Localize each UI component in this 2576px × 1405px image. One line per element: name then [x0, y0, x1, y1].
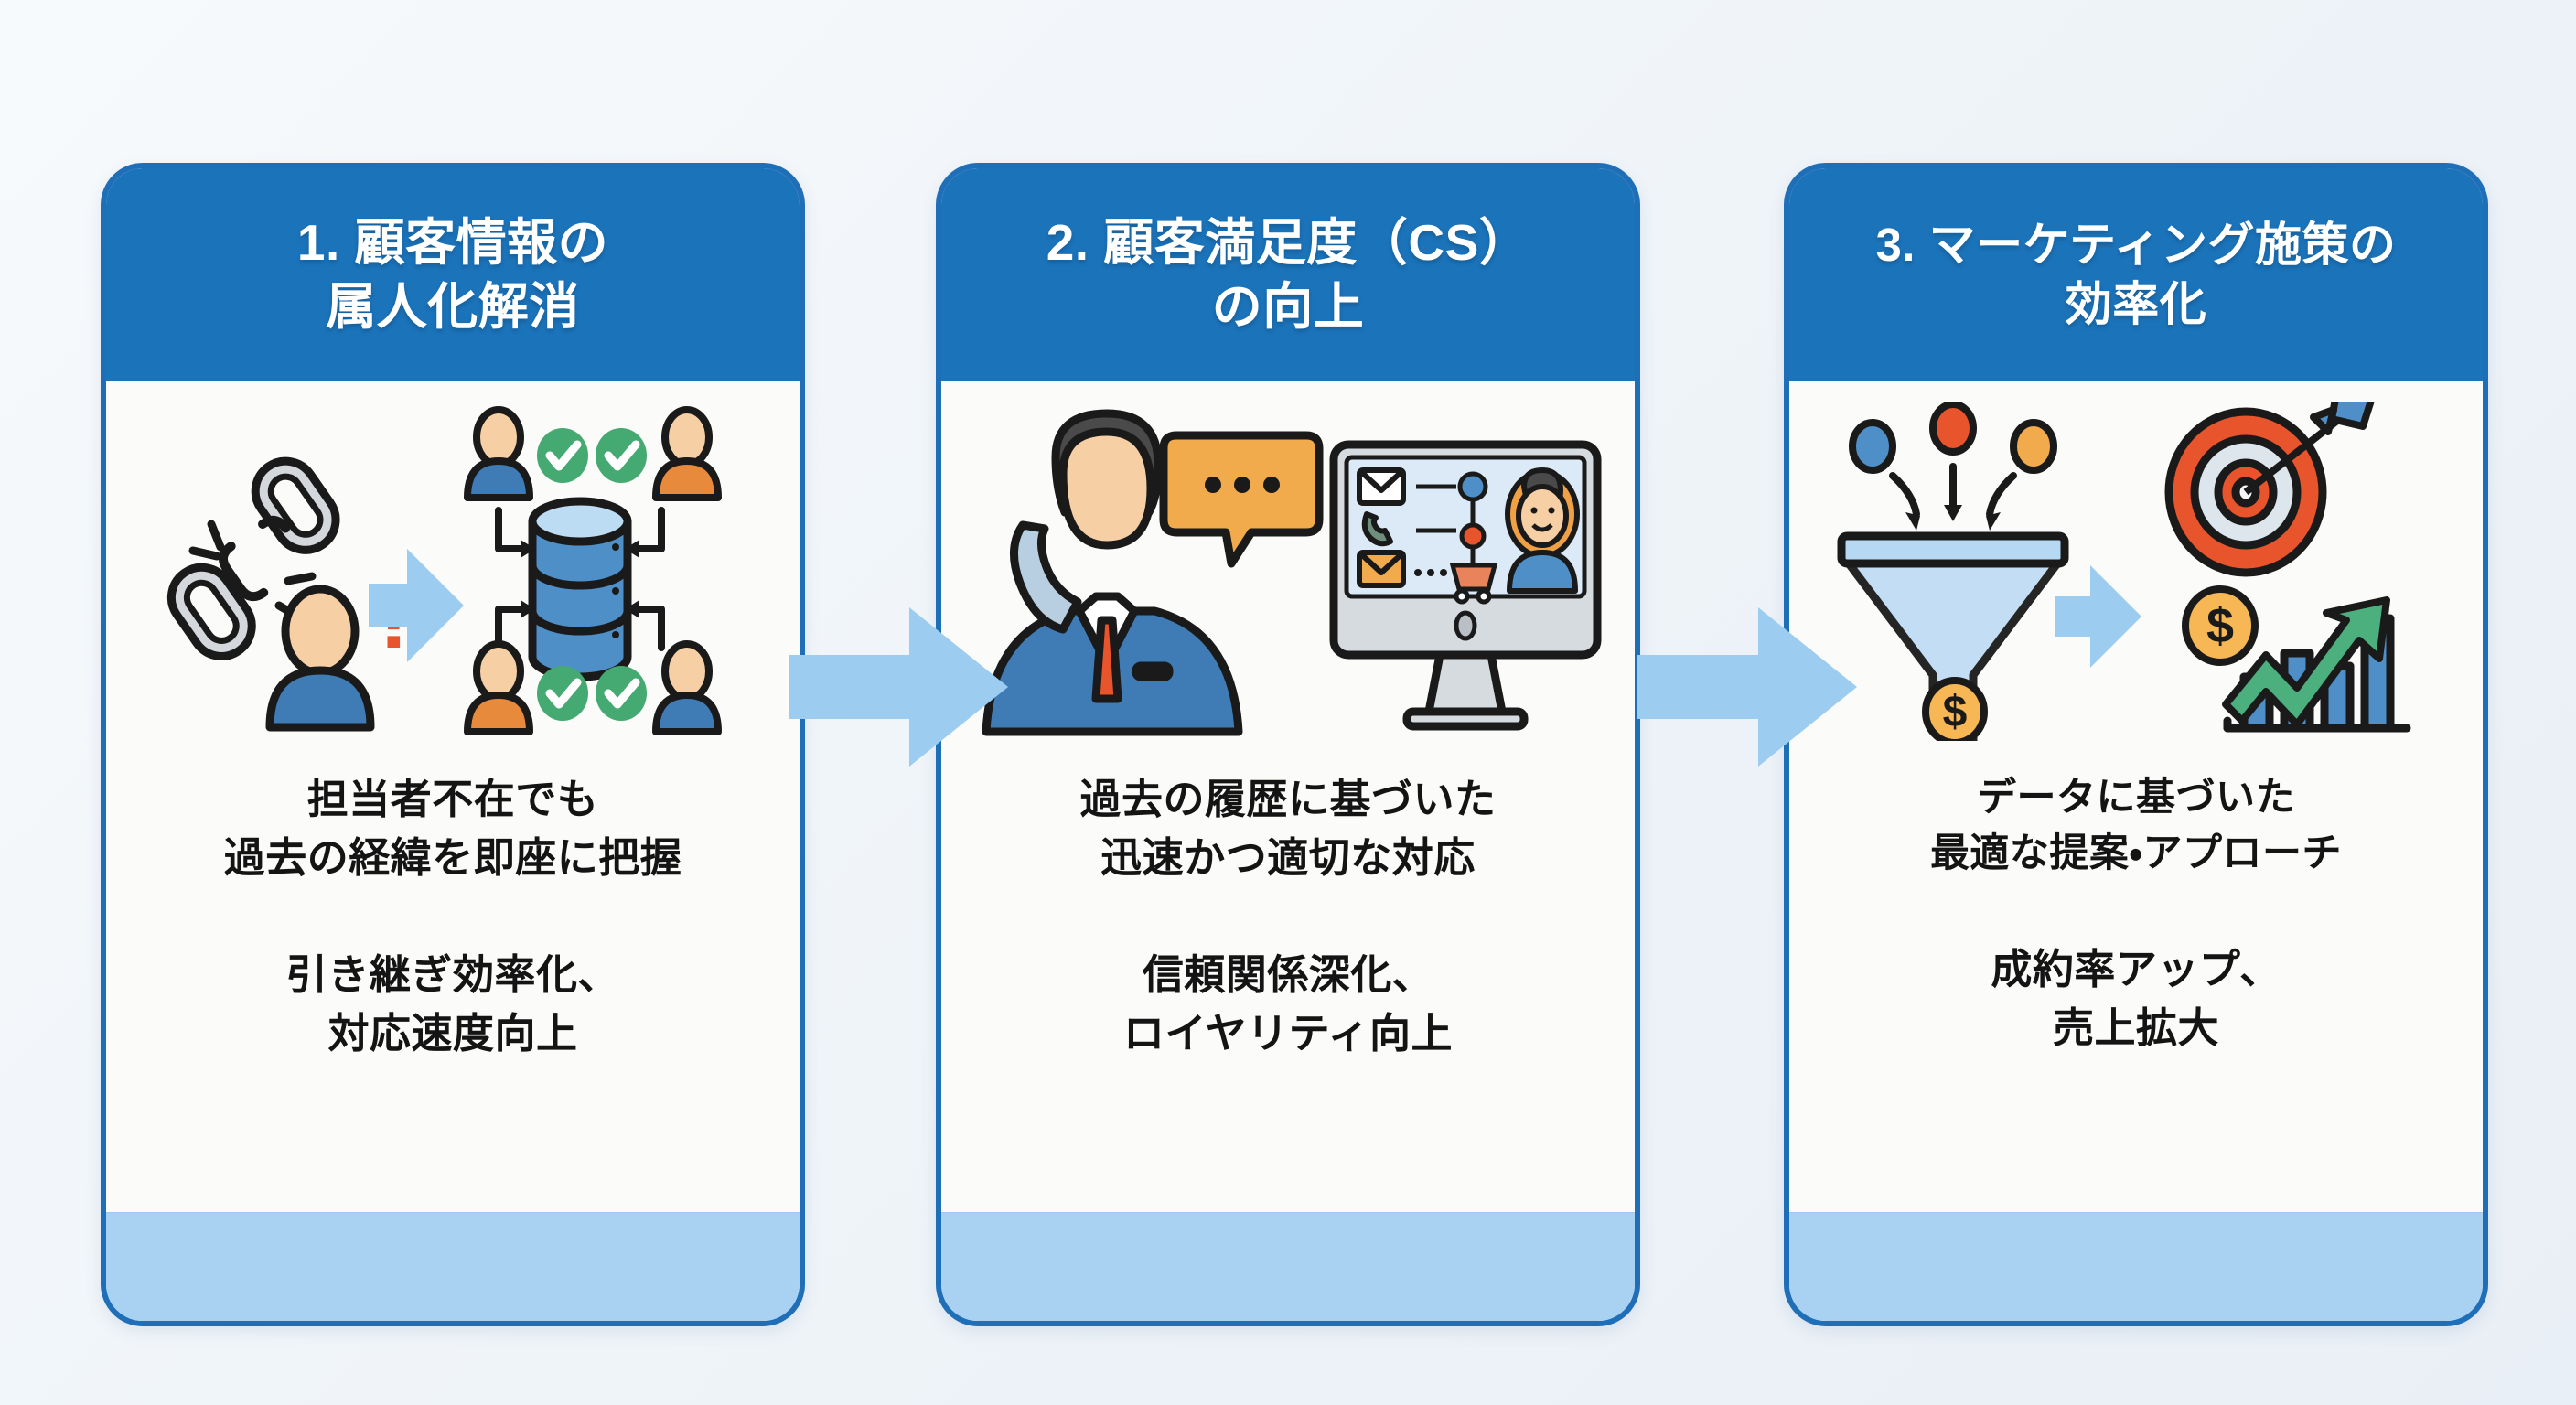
card-2-secondary-text: 信頼関係深化、 ロイヤリティ向上 [1123, 946, 1453, 1063]
phone-support-agent-and-customer-history-monitor-illustration [941, 393, 1635, 750]
svg-text:$: $ [1943, 688, 1968, 736]
benefit-card-1: 1. 顧客情報の 属人化解消 [101, 163, 805, 1326]
benefit-card-3: 3. マーケティング施策の 効率化 [1784, 163, 2488, 1326]
card-1-header: 1. 顧客情報の 属人化解消 [106, 168, 800, 381]
card-2-header: 2. 顧客満足度（CS） の向上 [941, 168, 1635, 381]
svg-text:$: $ [2206, 598, 2234, 653]
card-3-body: $ [1789, 381, 2483, 1212]
three-step-benefit-diagram: 1. 顧客情報の 属人化解消 [0, 0, 2576, 1405]
card-1-title: 1. 顧客情報の 属人化解消 [297, 210, 608, 339]
card-1-secondary-text: 引き継ぎ効率化、 対応速度向上 [286, 946, 619, 1063]
arrow-card2-to-card3 [1637, 602, 1857, 772]
card-1-primary-text: 担当者不在でも 過去の経緯を即座に把握 [224, 770, 682, 887]
card-3-header: 3. マーケティング施策の 効率化 [1789, 168, 2483, 381]
card-2-body: 過去の履歴に基づいた 迅速かつ適切な対応 信頼関係深化、 ロイヤリティ向上 [941, 381, 1635, 1212]
card-2-footer [941, 1212, 1635, 1321]
card-3-title: 3. マーケティング施策の 効率化 [1875, 215, 2396, 335]
card-3-secondary-text: 成約率アップ、 売上拡大 [1991, 940, 2281, 1057]
card-3-footer [1789, 1212, 2483, 1321]
card-1-body: ? [106, 381, 800, 1212]
funnel-to-target-and-growth-chart-illustration: $ [1789, 393, 2483, 750]
card-2-title: 2. 顧客満足度（CS） の向上 [1046, 210, 1530, 339]
arrow-card1-to-card2 [789, 602, 1008, 772]
card-3-primary-text: データに基づいた 最適な提案・アプローチ [1930, 770, 2342, 882]
benefit-card-2: 2. 顧客満足度（CS） の向上 [936, 163, 1640, 1326]
card-1-footer [106, 1212, 800, 1321]
broken-chain-to-shared-database-illustration: ? [106, 393, 800, 750]
card-2-primary-text: 過去の履歴に基づいた 迅速かつ適切な対応 [1079, 770, 1496, 887]
